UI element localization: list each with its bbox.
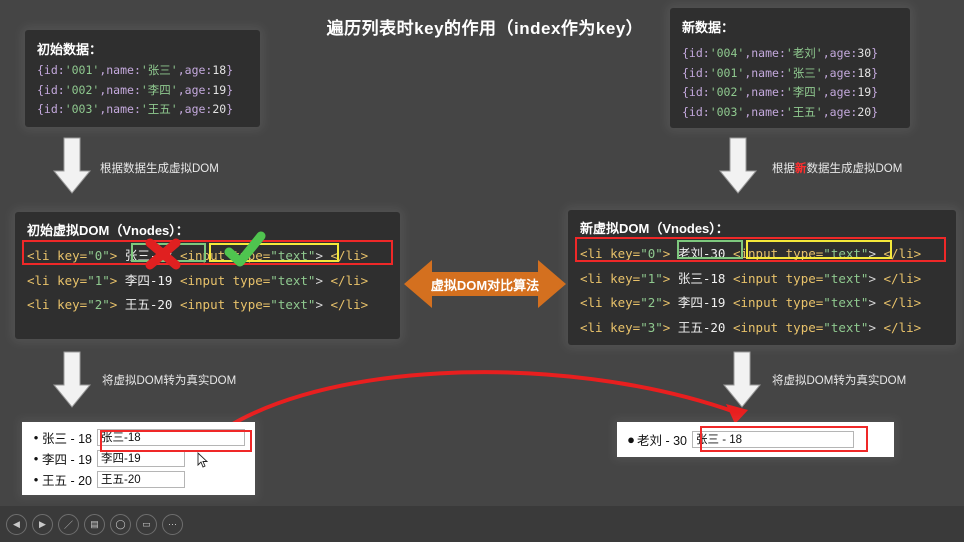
vdom-text-content: 老刘-30 [670, 246, 733, 261]
list-bullet-icon: ● [625, 432, 637, 447]
zoom-icon: ◯ [115, 519, 125, 530]
cross-mark-icon [141, 237, 185, 271]
object-value: '003' [710, 105, 745, 119]
vdom-to-dom-arrow-right [722, 352, 762, 408]
list-item: •王五 - 20王五-20 [30, 470, 255, 489]
initial-vdom-lines: <li key="0"> 张三-18 <input type="text"> <… [27, 250, 400, 312]
vdom-text-content: 王五-20 [117, 297, 180, 312]
label-prefix: 根据 [772, 163, 795, 175]
vdom-tag-open: <li [580, 320, 603, 335]
object-brace: } [871, 85, 878, 99]
previous-slide-icon: ◀ [13, 519, 20, 530]
object-value: '王五' [141, 102, 178, 116]
vdom-tag-open: <li [580, 271, 603, 286]
vdom-input-markup: <input type="text"> [733, 246, 876, 261]
new-vdom-heading: 新虚拟DOM（Vnodes）： [580, 218, 956, 237]
data-object-line: {id:'003',name:'王五',age:20} [682, 107, 900, 119]
rendered-dom-right-rows: ●老刘 - 30张三 - 18 [617, 422, 894, 449]
vdom-key-attr: key= [610, 295, 640, 310]
object-key: ,name: [99, 63, 141, 77]
vdom-to-dom-label-right: 将虚拟DOM转为真实DOM [772, 372, 906, 388]
list-bullet-icon: • [30, 451, 42, 466]
object-key: ,age: [823, 46, 858, 60]
vdom-line: <li key="0"> 张三-18 <input type="text"> <… [27, 250, 400, 263]
vdom-to-dom-arrow-left [52, 352, 92, 408]
vdom-line: <li key="1"> 李四-19 <input type="text"> <… [27, 275, 400, 288]
list-item-text-input[interactable]: 王五-20 [97, 471, 185, 488]
list-item: •李四 - 19李四-19 [30, 449, 255, 468]
next-slide-icon: ▶ [39, 519, 46, 530]
vdom-text-content: 张三-18 [670, 271, 733, 286]
vdom-input-markup: <input type="text"> [180, 297, 323, 312]
new-data-rows: {id:'004',name:'老刘',age:30}{id:'001',nam… [682, 48, 900, 118]
vdom-key-attr: key= [57, 248, 87, 263]
initial-data-heading: 初始数据： [37, 39, 250, 58]
data-object-line: {id:'001',name:'张三',age:18} [682, 68, 900, 80]
object-brace: } [871, 66, 878, 80]
vdom-to-dom-label-left: 将虚拟DOM转为真实DOM [102, 372, 236, 388]
next-slide-button[interactable]: ▶ [32, 514, 53, 535]
vdom-tag-open: <li [580, 295, 603, 310]
object-key: ,name: [99, 102, 141, 116]
slide-toolbar: ◀▶／▤◯▭⋯ [0, 506, 964, 542]
object-value: 18 [857, 66, 871, 80]
object-key: ,age: [823, 85, 858, 99]
vdom-input-markup: <input type="text"> [733, 295, 876, 310]
object-key: ,name: [744, 85, 786, 99]
slide-canvas: 遍历列表时key的作用（index作为key） 初始数据： {id:'001',… [0, 0, 964, 542]
object-brace: } [871, 46, 878, 60]
new-vdom-panel: 新虚拟DOM（Vnodes）： <li key="0"> 老刘-30 <inpu… [568, 210, 956, 345]
list-item: ●老刘 - 30张三 - 18 [625, 430, 894, 449]
vdom-key-value: "0" [87, 248, 110, 263]
vdom-input-markup: <input type="text"> [733, 320, 876, 335]
initial-data-rows: {id:'001',name:'张三',age:18}{id:'002',nam… [37, 65, 250, 116]
vdom-line: <li key="3"> 王五-20 <input type="text"> <… [580, 322, 956, 335]
object-value: '王五' [786, 105, 823, 119]
vdom-key-value: "1" [640, 271, 663, 286]
page-title: 遍历列表时key的作用（index作为key） [275, 14, 695, 39]
data-object-line: {id:'002',name:'李四',age:19} [37, 85, 250, 97]
more-options-button[interactable]: ⋯ [162, 514, 183, 535]
vdom-input-markup: <input type="text"> [180, 273, 323, 288]
object-key: {id: [682, 66, 710, 80]
label-suffix: 数据生成虚拟DOM [807, 163, 903, 175]
layers-icon: ▤ [90, 519, 99, 530]
object-key: ,name: [744, 66, 786, 80]
vdom-tag-close: </li> [884, 246, 922, 261]
pen-button[interactable]: ／ [58, 514, 79, 535]
vdom-tag-open: <li [27, 273, 50, 288]
previous-slide-button[interactable]: ◀ [6, 514, 27, 535]
object-brace: } [226, 63, 233, 77]
data-object-line: {id:'003',name:'王五',age:20} [37, 104, 250, 116]
vdom-tag-close: </li> [331, 297, 369, 312]
vdom-key-value: "1" [87, 273, 110, 288]
object-key: ,name: [99, 83, 141, 97]
vdom-key-attr: key= [57, 273, 87, 288]
vdom-key-value: "2" [87, 297, 110, 312]
object-key: ,age: [823, 105, 858, 119]
list-item-label: 张三 - 18 [42, 428, 92, 447]
object-key: {id: [37, 102, 65, 116]
label-highlight-new: 新 [795, 163, 807, 175]
object-value: '老刘' [786, 46, 823, 60]
object-key: {id: [682, 105, 710, 119]
presenter-view-button[interactable]: ▭ [136, 514, 157, 535]
generate-vdom-label-left: 根据数据生成虚拟DOM [100, 160, 219, 176]
object-brace: } [871, 105, 878, 119]
rendered-dom-left-rows: •张三 - 18张三-18•李四 - 19李四-19•王五 - 20王五-20 [22, 422, 255, 489]
vdom-tag-close: </li> [884, 271, 922, 286]
vdom-input-markup: <input type="text"> [733, 271, 876, 286]
list-item-label: 王五 - 20 [42, 470, 92, 489]
new-data-panel: 新数据： {id:'004',name:'老刘',age:30}{id:'001… [670, 8, 910, 128]
generate-vdom-label-right: 根据新数据生成虚拟DOM [772, 160, 902, 176]
rendered-dom-left: •张三 - 18张三-18•李四 - 19李四-19•王五 - 20王五-20 [22, 422, 255, 495]
vdom-diff-arrow: 虚拟DOM对比算法 [404, 258, 566, 310]
object-key: ,age: [178, 102, 213, 116]
object-value: 18 [212, 63, 226, 77]
data-object-line: {id:'001',name:'张三',age:18} [37, 65, 250, 77]
list-item-label: 老刘 - 30 [637, 430, 687, 449]
presenter-view-icon: ▭ [142, 519, 151, 530]
object-key: ,age: [178, 83, 213, 97]
vdom-key-value: "0" [640, 246, 663, 261]
vdom-line: <li key="0"> 老刘-30 <input type="text"> <… [580, 248, 956, 261]
object-value: '002' [65, 83, 100, 97]
vdom-tag-open: <li [580, 246, 603, 261]
vdom-key-attr: key= [610, 246, 640, 261]
initial-data-panel: 初始数据： {id:'001',name:'张三',age:18}{id:'00… [25, 30, 260, 127]
pen-icon: ／ [64, 518, 73, 531]
object-value: 19 [212, 83, 226, 97]
vdom-line: <li key="1"> 张三-18 <input type="text"> <… [580, 273, 956, 286]
object-value: '张三' [786, 66, 823, 80]
vdom-line: <li key="2"> 王五-20 <input type="text"> <… [27, 299, 400, 312]
vdom-text-content: 王五-20 [670, 320, 733, 335]
check-mark-icon [225, 232, 267, 268]
vdom-tag-open: <li [27, 297, 50, 312]
object-key: {id: [37, 63, 65, 77]
object-value: 20 [212, 102, 226, 116]
data-object-line: {id:'004',name:'老刘',age:30} [682, 48, 900, 60]
rendered-dom-right: ●老刘 - 30张三 - 18 [617, 422, 894, 457]
object-key: ,age: [823, 66, 858, 80]
object-key: {id: [682, 46, 710, 60]
vdom-key-value: "2" [640, 295, 663, 310]
object-key: ,name: [744, 46, 786, 60]
object-value: '张三' [141, 63, 178, 77]
list-item: •张三 - 18张三-18 [30, 428, 255, 447]
vdom-key-attr: key= [610, 271, 640, 286]
list-item-text-input[interactable]: 张三-18 [97, 429, 245, 446]
object-value: '003' [65, 102, 100, 116]
list-bullet-icon: • [30, 472, 42, 487]
zoom-button[interactable]: ◯ [110, 514, 131, 535]
vdom-tag-close: </li> [331, 273, 369, 288]
vdom-tag-close: </li> [884, 295, 922, 310]
object-brace: } [226, 102, 233, 116]
generate-vdom-arrow-left [52, 138, 92, 194]
vdom-tag-open: <li [27, 248, 50, 263]
vdom-text-content: 李四-19 [670, 295, 733, 310]
vdom-tag-close: </li> [884, 320, 922, 335]
vdom-tag-close: </li> [331, 248, 369, 263]
vdom-line: <li key="2"> 李四-19 <input type="text"> <… [580, 297, 956, 310]
object-value: '001' [710, 66, 745, 80]
list-item-text-input[interactable]: 张三 - 18 [692, 431, 854, 448]
vdom-diff-label: 虚拟DOM对比算法 [404, 258, 566, 310]
object-key: ,age: [178, 63, 213, 77]
vdom-key-value: "3" [640, 320, 663, 335]
object-value: '李四' [141, 83, 178, 97]
initial-vdom-panel: 初始虚拟DOM（Vnodes）： <li key="0"> 张三-18 <inp… [15, 212, 400, 339]
more-options-icon: ⋯ [168, 519, 177, 530]
vdom-key-attr: key= [610, 320, 640, 335]
list-item-label: 李四 - 19 [42, 449, 92, 468]
object-value: 30 [857, 46, 871, 60]
object-value: '李四' [786, 85, 823, 99]
data-object-line: {id:'002',name:'李四',age:19} [682, 87, 900, 99]
list-item-text-input[interactable]: 李四-19 [97, 450, 185, 467]
object-key: ,name: [744, 105, 786, 119]
object-key: {id: [682, 85, 710, 99]
mouse-cursor-icon [198, 453, 209, 468]
layers-button[interactable]: ▤ [84, 514, 105, 535]
object-value: 20 [857, 105, 871, 119]
object-value: 19 [857, 85, 871, 99]
new-vdom-lines: <li key="0"> 老刘-30 <input type="text"> <… [580, 248, 956, 334]
vdom-key-attr: key= [57, 297, 87, 312]
object-brace: } [226, 83, 233, 97]
object-value: '004' [710, 46, 745, 60]
object-key: {id: [37, 83, 65, 97]
vdom-text-content: 李四-19 [117, 273, 180, 288]
object-value: '002' [710, 85, 745, 99]
list-bullet-icon: • [30, 430, 42, 445]
new-data-heading: 新数据： [682, 17, 900, 36]
object-value: '001' [65, 63, 100, 77]
initial-vdom-heading: 初始虚拟DOM（Vnodes）： [27, 220, 400, 239]
generate-vdom-arrow-right [718, 138, 758, 194]
